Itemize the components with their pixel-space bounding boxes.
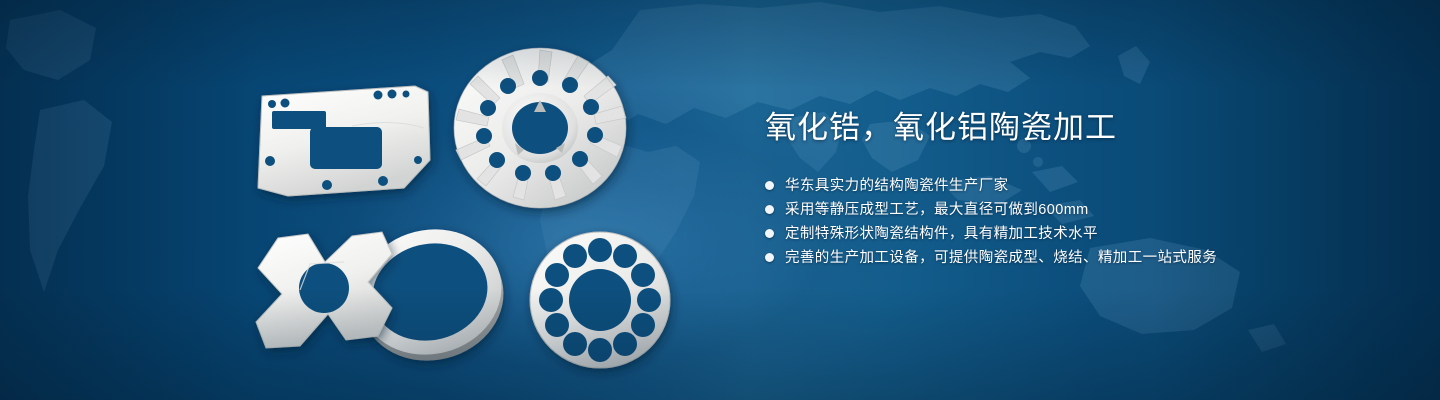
bullet-dot-icon: [765, 181, 774, 190]
page-title: 氧化锆，氧化铝陶瓷加工: [765, 108, 1385, 148]
feature-list: 华东具实力的结构陶瓷件生产厂家 采用等静压成型工艺，最大直径可做到600mm 定…: [765, 174, 1385, 269]
list-item: 完善的生产加工设备，可提供陶瓷成型、烧结、精加工一站式服务: [765, 246, 1385, 269]
list-item: 采用等静压成型工艺，最大直径可做到600mm: [765, 198, 1385, 221]
list-item: 定制特殊形状陶瓷结构件，具有精加工技术水平: [765, 222, 1385, 245]
list-item-label: 华东具实力的结构陶瓷件生产厂家: [785, 176, 1009, 196]
bullet-dot-icon: [765, 205, 774, 214]
list-item-label: 采用等静压成型工艺，最大直径可做到600mm: [785, 200, 1089, 220]
list-item-label: 定制特殊形状陶瓷结构件，具有精加工技术水平: [785, 224, 1098, 244]
list-item-label: 完善的生产加工设备，可提供陶瓷成型、烧结、精加工一站式服务: [785, 248, 1217, 268]
list-item: 华东具实力的结构陶瓷件生产厂家: [765, 174, 1385, 197]
promo-banner: 氧化锆，氧化铝陶瓷加工 华东具实力的结构陶瓷件生产厂家 采用等静压成型工艺，最大…: [0, 0, 1440, 400]
bullet-dot-icon: [765, 229, 774, 238]
banner-copy: 氧化锆，氧化铝陶瓷加工 华东具实力的结构陶瓷件生产厂家 采用等静压成型工艺，最大…: [765, 108, 1385, 270]
bullet-dot-icon: [765, 253, 774, 262]
